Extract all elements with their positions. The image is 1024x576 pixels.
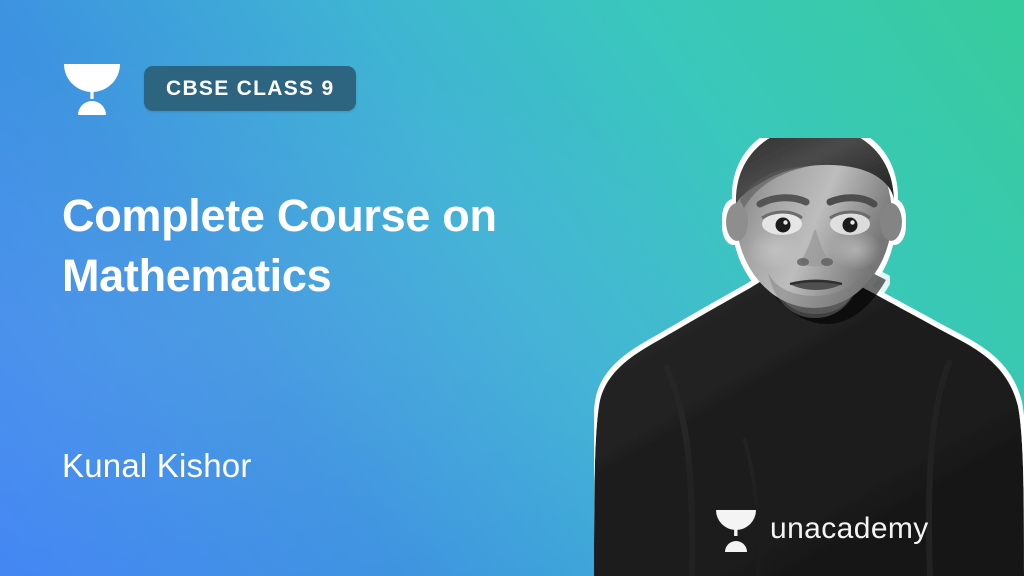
course-title: Complete Course on Mathematics: [62, 186, 622, 307]
educator-portrait: unacademy: [594, 138, 1024, 576]
course-thumbnail-card: CBSE CLASS 9 Complete Course on Mathemat…: [0, 0, 1024, 576]
shirt-logo-text: unacademy: [770, 512, 929, 545]
educator-name: Kunal Kishor: [62, 446, 252, 486]
thumbnail-header: CBSE CLASS 9: [62, 60, 356, 116]
course-title-line-2: Mathematics: [62, 246, 622, 306]
class-badge-label: CBSE CLASS 9: [166, 78, 334, 99]
course-title-line-1: Complete Course on: [62, 186, 622, 246]
class-badge: CBSE CLASS 9: [144, 66, 356, 111]
unacademy-bowl-logo-icon: [62, 60, 122, 116]
portrait-silhouette: unacademy: [594, 138, 1024, 576]
